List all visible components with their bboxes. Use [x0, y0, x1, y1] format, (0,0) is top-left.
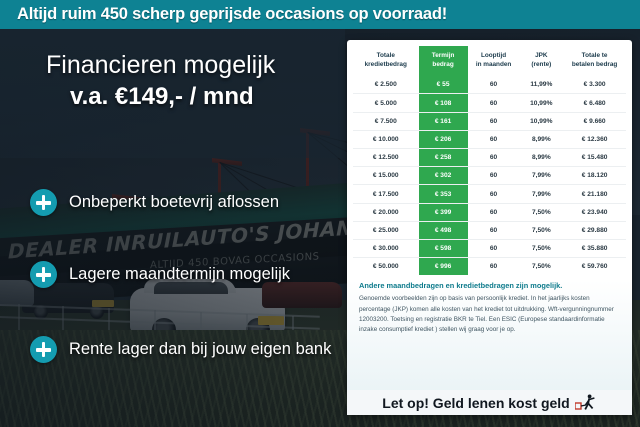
table-cell: 60 [468, 112, 520, 130]
table-column-header: JPK(rente) [520, 46, 564, 76]
table-cell: 7,50% [520, 203, 564, 221]
table-cell: € 29.880 [563, 221, 626, 239]
table-cell: 60 [468, 203, 520, 221]
feature-bullet-3: Rente lager dan bij jouw eigen bank [30, 336, 331, 363]
table-cell: € 598 [419, 239, 468, 257]
table-row: € 25.000€ 498607,50%€ 29.880 [353, 221, 626, 239]
table-header-row: TotalekredietbedragTermijnbedragLooptijd… [353, 46, 626, 76]
table-column-header: Termijnbedrag [419, 46, 468, 76]
table-column-header: Totale tebetalen bedrag [563, 46, 626, 76]
table-row: € 7.500€ 1616010,99%€ 9.660 [353, 112, 626, 130]
table-cell: € 17.500 [353, 185, 419, 203]
table-row: € 12.500€ 258608,99%€ 15.480 [353, 149, 626, 167]
table-cell: 60 [468, 239, 520, 257]
footer-title: Andere maandbedragen en kredietbedragen … [359, 281, 620, 290]
credit-warning-text: Let op! Geld lenen kost geld [382, 395, 569, 411]
table-cell: € 353 [419, 185, 468, 203]
table-cell: € 108 [419, 94, 468, 112]
table-cell: € 25.000 [353, 221, 419, 239]
loan-rates-table-wrapper: TotalekredietbedragTermijnbedragLooptijd… [347, 40, 632, 275]
table-cell: 7,50% [520, 258, 564, 276]
table-row: € 5.000€ 1086010,99%€ 6.480 [353, 94, 626, 112]
table-row: € 15.000€ 302607,99%€ 18.120 [353, 167, 626, 185]
table-cell: € 10.000 [353, 130, 419, 148]
table-cell: € 9.660 [563, 112, 626, 130]
table-column-header: Looptijdin maanden [468, 46, 520, 76]
table-cell: € 5.000 [353, 94, 419, 112]
table-cell: 60 [468, 149, 520, 167]
table-cell: € 258 [419, 149, 468, 167]
table-row: € 50.000€ 996607,50%€ 59.760 [353, 258, 626, 276]
table-cell: € 21.180 [563, 185, 626, 203]
table-cell: € 302 [419, 167, 468, 185]
top-headline-text: Altijd ruim 450 scherp geprijsde occasio… [17, 5, 447, 24]
table-column-header: Totalekredietbedrag [353, 46, 419, 76]
table-cell: 7,99% [520, 185, 564, 203]
left-feature-column: Financieren mogelijk v.a. €149,- / mnd O… [0, 29, 345, 427]
table-cell: € 206 [419, 130, 468, 148]
table-row: € 2.500€ 556011,99%€ 3.300 [353, 76, 626, 94]
plus-icon [30, 261, 57, 288]
table-row: € 10.000€ 206608,99%€ 12.360 [353, 130, 626, 148]
footer-disclaimer-text: Genoemde voorbeelden zijn op basis van p… [359, 294, 620, 335]
table-cell: 10,99% [520, 112, 564, 130]
financing-headline-secondary: v.a. €149,- / mnd [70, 83, 335, 111]
loan-rates-card: TotalekredietbedragTermijnbedragLooptijd… [347, 40, 632, 415]
table-cell: 7,99% [520, 167, 564, 185]
table-cell: € 18.120 [563, 167, 626, 185]
table-cell: € 161 [419, 112, 468, 130]
table-cell: € 6.480 [563, 94, 626, 112]
table-cell: € 50.000 [353, 258, 419, 276]
table-cell: € 35.880 [563, 239, 626, 257]
table-cell: € 399 [419, 203, 468, 221]
table-cell: 60 [468, 185, 520, 203]
table-cell: 60 [468, 94, 520, 112]
table-cell: € 2.500 [353, 76, 419, 94]
plus-icon [30, 189, 57, 216]
table-cell: 60 [468, 130, 520, 148]
table-cell: 60 [468, 221, 520, 239]
table-cell: € 3.300 [563, 76, 626, 94]
financing-promo-banner: DEALER INRUILAUTO'S JOHAN MEURS ALTIJD 4… [0, 0, 640, 427]
running-man-with-box-icon [575, 394, 597, 411]
financing-headline-block: Financieren mogelijk v.a. €149,- / mnd [30, 51, 335, 111]
table-cell: € 59.760 [563, 258, 626, 276]
table-row: € 20.000€ 399607,50%€ 23.940 [353, 203, 626, 221]
feature-bullet-2: Lagere maandtermijn mogelijk [30, 261, 290, 288]
financing-headline-primary: Financieren mogelijk [46, 51, 335, 80]
feature-bullet-2-label: Lagere maandtermijn mogelijk [69, 265, 290, 284]
table-cell: 60 [468, 76, 520, 94]
table-cell: € 30.000 [353, 239, 419, 257]
table-cell: € 12.500 [353, 149, 419, 167]
table-cell: € 20.000 [353, 203, 419, 221]
table-cell: 60 [468, 258, 520, 276]
feature-bullet-1-label: Onbeperkt boetevrij aflossen [69, 193, 279, 212]
table-cell: € 12.360 [563, 130, 626, 148]
table-cell: € 7.500 [353, 112, 419, 130]
feature-bullet-3-label: Rente lager dan bij jouw eigen bank [69, 340, 331, 359]
table-cell: 11,99% [520, 76, 564, 94]
plus-icon [30, 336, 57, 363]
table-row: € 17.500€ 353607,99%€ 21.180 [353, 185, 626, 203]
table-cell: € 23.940 [563, 203, 626, 221]
table-cell: 10,99% [520, 94, 564, 112]
credit-warning-strip: Let op! Geld lenen kost geld [347, 390, 632, 415]
table-row: € 30.000€ 598607,50%€ 35.880 [353, 239, 626, 257]
table-cell: € 15.000 [353, 167, 419, 185]
table-cell: 60 [468, 167, 520, 185]
card-footer: Andere maandbedragen en kredietbedragen … [347, 275, 632, 335]
feature-bullet-1: Onbeperkt boetevrij aflossen [30, 189, 279, 216]
top-headline-bar: Altijd ruim 450 scherp geprijsde occasio… [0, 0, 640, 29]
table-head: TotalekredietbedragTermijnbedragLooptijd… [353, 46, 626, 76]
loan-rates-table: TotalekredietbedragTermijnbedragLooptijd… [353, 46, 626, 275]
table-cell: 7,50% [520, 221, 564, 239]
table-cell: € 15.480 [563, 149, 626, 167]
table-cell: € 55 [419, 76, 468, 94]
table-cell: € 498 [419, 221, 468, 239]
table-body: € 2.500€ 556011,99%€ 3.300€ 5.000€ 10860… [353, 76, 626, 275]
table-cell: 8,99% [520, 130, 564, 148]
table-cell: € 996 [419, 258, 468, 276]
table-cell: 7,50% [520, 239, 564, 257]
table-cell: 8,99% [520, 149, 564, 167]
